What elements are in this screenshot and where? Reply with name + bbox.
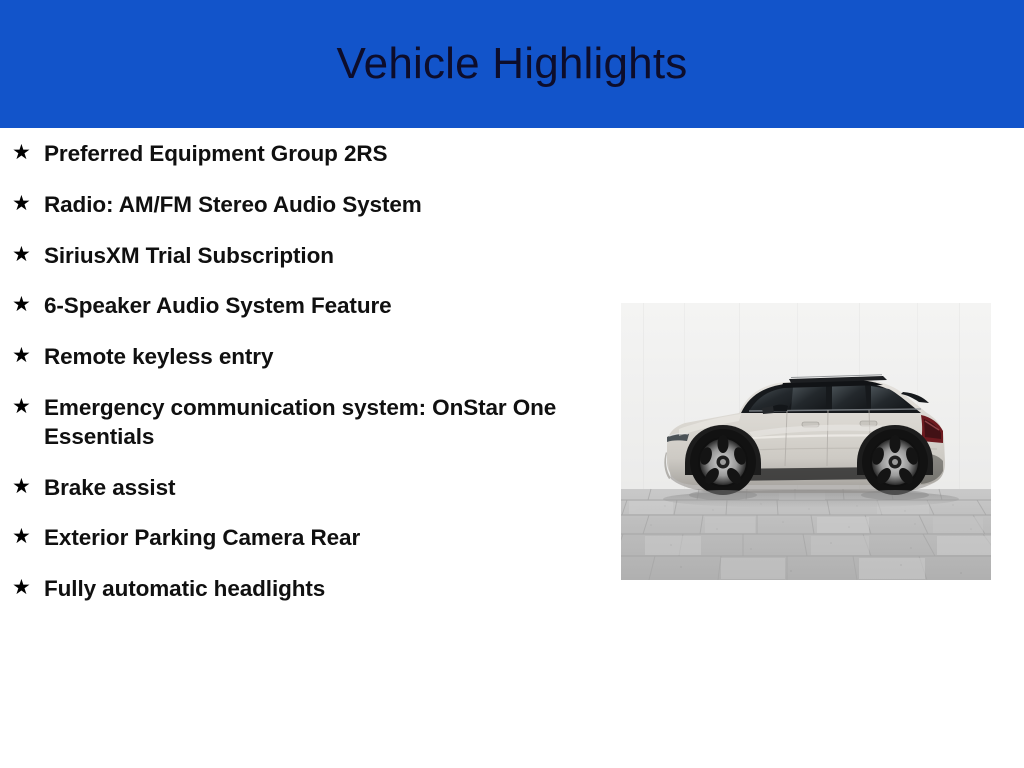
star-icon: ★ (10, 575, 44, 602)
star-icon: ★ (10, 524, 44, 551)
list-item-label: Radio: AM/FM Stereo Audio System (44, 191, 600, 220)
star-icon: ★ (10, 474, 44, 501)
page-title: Vehicle Highlights (337, 42, 688, 86)
star-icon: ★ (10, 191, 44, 218)
list-item-label: Emergency communication system: OnStar O… (44, 394, 600, 452)
list-item: ★ Exterior Parking Camera Rear (10, 524, 600, 553)
star-icon: ★ (10, 343, 44, 370)
list-item-label: SiriusXM Trial Subscription (44, 242, 600, 271)
list-item-label: Preferred Equipment Group 2RS (44, 140, 600, 169)
list-item: ★ Fully automatic headlights (10, 575, 600, 604)
star-icon: ★ (10, 394, 44, 421)
vehicle-side-profile-photo (621, 303, 991, 580)
list-item: ★ Emergency communication system: OnStar… (10, 394, 600, 452)
list-item-label: Brake assist (44, 474, 600, 503)
list-item: ★ SiriusXM Trial Subscription (10, 242, 600, 271)
star-icon: ★ (10, 140, 44, 167)
list-item-label: Fully automatic headlights (44, 575, 600, 604)
slide: Vehicle Highlights ★ Preferred Equipment… (0, 0, 1024, 768)
star-icon: ★ (10, 292, 44, 319)
list-item-label: Exterior Parking Camera Rear (44, 524, 600, 553)
vehicle-highlights-list: ★ Preferred Equipment Group 2RS ★ Radio:… (10, 140, 600, 626)
list-item: ★ Preferred Equipment Group 2RS (10, 140, 600, 169)
header-band: Vehicle Highlights (0, 0, 1024, 128)
list-item-label: 6-Speaker Audio System Feature (44, 292, 600, 321)
list-item: ★ Radio: AM/FM Stereo Audio System (10, 191, 600, 220)
list-item-label: Remote keyless entry (44, 343, 600, 372)
list-item: ★ Brake assist (10, 474, 600, 503)
list-item: ★ Remote keyless entry (10, 343, 600, 372)
list-item: ★ 6-Speaker Audio System Feature (10, 292, 600, 321)
star-icon: ★ (10, 242, 44, 269)
